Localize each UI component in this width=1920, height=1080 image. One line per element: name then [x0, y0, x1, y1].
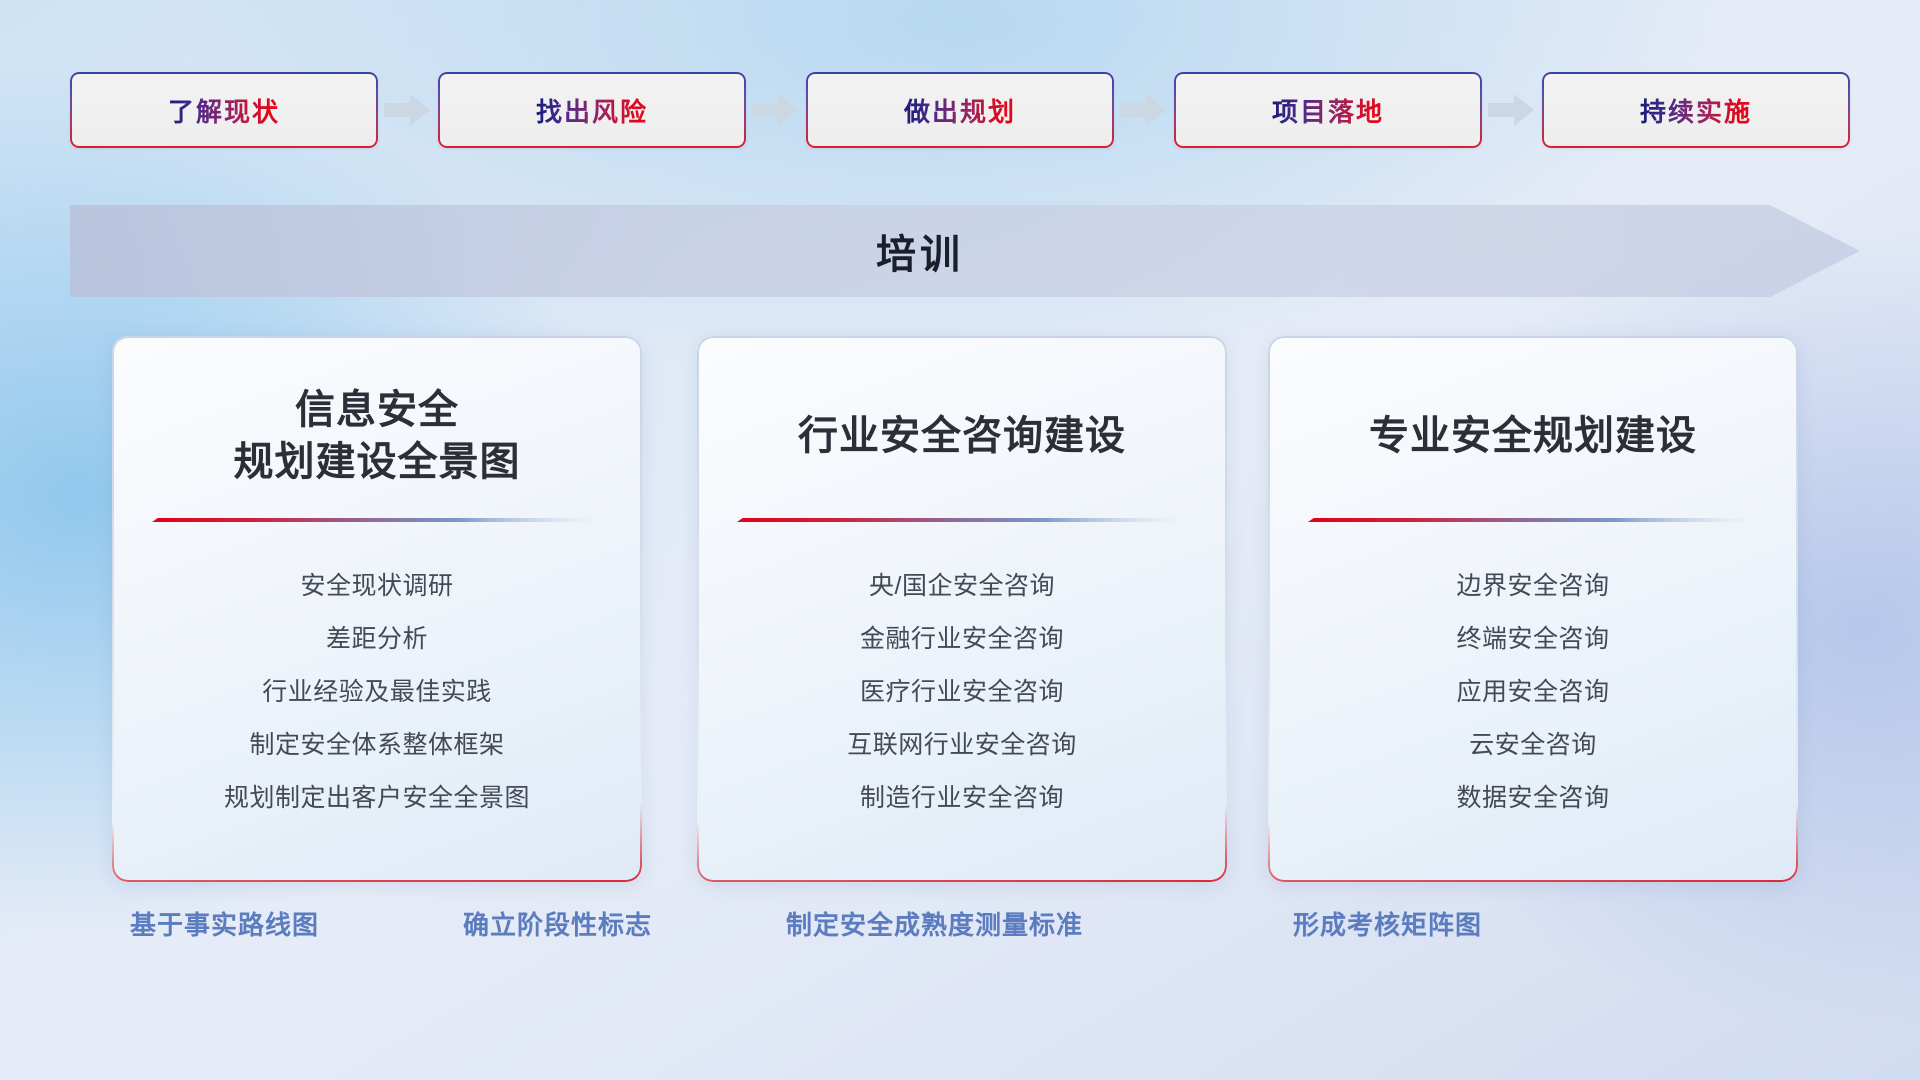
list-item: 互联网行业安全咨询	[727, 719, 1197, 772]
card-professional-security-planning[interactable]: 专业安全规划建设	[1268, 336, 1798, 882]
list-item: 终端安全咨询	[1298, 613, 1768, 666]
card-divider	[737, 516, 1187, 526]
caption-roadmap: 基于事实路线图	[130, 905, 319, 942]
card-title: 行业安全咨询建设	[727, 382, 1197, 490]
card-title-line: 规划建设全景图	[142, 436, 612, 488]
list-item: 应用安全咨询	[1298, 666, 1768, 719]
process-step-label: 找出风险	[536, 92, 648, 129]
card-title: 专业安全规划建设	[1298, 382, 1768, 490]
list-item: 安全现状调研	[142, 560, 612, 613]
process-step-5[interactable]: 持续实施	[1542, 72, 1850, 148]
list-item: 边界安全咨询	[1298, 560, 1768, 613]
caption-assessment-matrix: 形成考核矩阵图	[1293, 905, 1482, 942]
list-item: 差距分析	[142, 613, 612, 666]
list-item: 央/国企安全咨询	[727, 560, 1197, 613]
process-step-4[interactable]: 项目落地	[1174, 72, 1482, 148]
process-step-2[interactable]: 找出风险	[438, 72, 746, 148]
list-item: 医疗行业安全咨询	[727, 666, 1197, 719]
card-title-line: 专业安全规划建设	[1298, 410, 1768, 462]
arrow-right-icon	[746, 92, 806, 128]
list-item: 制造行业安全咨询	[727, 772, 1197, 825]
card-divider	[152, 516, 602, 526]
list-item: 行业经验及最佳实践	[142, 666, 612, 719]
arrow-right-icon	[1482, 92, 1542, 128]
card-item-list: 安全现状调研 差距分析 行业经验及最佳实践 制定安全体系整体框架 规划制定出客户…	[142, 560, 612, 825]
process-step-1[interactable]: 了解现状	[70, 72, 378, 148]
captions-row: 基于事实路线图 确立阶段性标志 制定安全成熟度测量标准 形成考核矩阵图	[0, 905, 1920, 965]
caption-maturity-standard: 制定安全成熟度测量标准	[786, 905, 1083, 942]
arrow-right-icon	[378, 92, 438, 128]
process-step-label: 了解现状	[168, 92, 280, 129]
list-item: 云安全咨询	[1298, 719, 1768, 772]
slide-canvas: 了解现状 找出风险 做出规划 项目落地 持续实施	[0, 0, 1920, 1080]
card-industry-security-consulting[interactable]: 行业安全咨询建设	[697, 336, 1227, 882]
card-title-line: 行业安全咨询建设	[727, 410, 1197, 462]
arrow-right-icon	[1114, 92, 1174, 128]
card-title: 信息安全 规划建设全景图	[142, 382, 612, 490]
list-item: 制定安全体系整体框架	[142, 719, 612, 772]
process-step-label: 项目落地	[1272, 92, 1384, 129]
training-banner: 培训	[70, 205, 1860, 297]
card-information-security-blueprint[interactable]: 信息安全 规划建设全景图	[112, 336, 642, 882]
banner-title: 培训	[70, 205, 1770, 297]
card-item-list: 央/国企安全咨询 金融行业安全咨询 医疗行业安全咨询 互联网行业安全咨询 制造行…	[727, 560, 1197, 825]
card-item-list: 边界安全咨询 终端安全咨询 应用安全咨询 云安全咨询 数据安全咨询	[1298, 560, 1768, 825]
caption-milestones: 确立阶段性标志	[463, 905, 652, 942]
list-item: 规划制定出客户安全全景图	[142, 772, 612, 825]
list-item: 金融行业安全咨询	[727, 613, 1197, 666]
list-item: 数据安全咨询	[1298, 772, 1768, 825]
card-divider	[1308, 516, 1758, 526]
process-step-3[interactable]: 做出规划	[806, 72, 1114, 148]
cards-row: 信息安全 规划建设全景图	[0, 336, 1920, 882]
process-step-label: 持续实施	[1640, 92, 1752, 129]
process-steps-row: 了解现状 找出风险 做出规划 项目落地 持续实施	[70, 72, 1850, 148]
process-step-label: 做出规划	[904, 92, 1016, 129]
card-title-line: 信息安全	[142, 384, 612, 436]
